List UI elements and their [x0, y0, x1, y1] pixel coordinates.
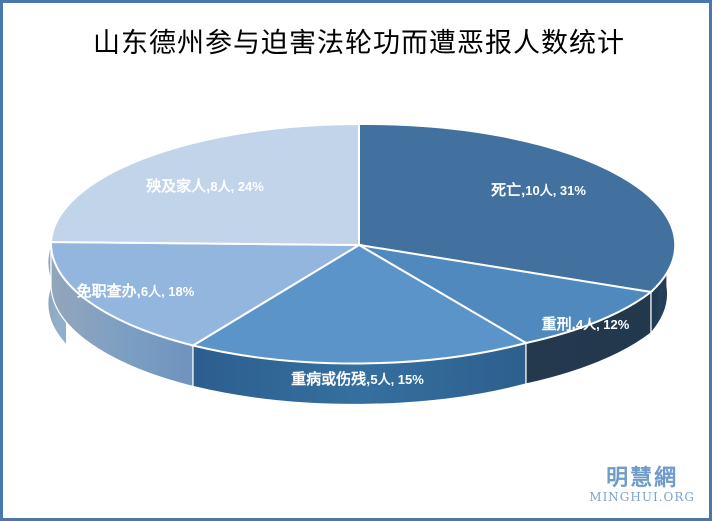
pie-label-death: 死亡,10人, 31%	[446, 179, 631, 202]
pie-label-prison-name: 重刑,	[542, 316, 576, 333]
pie-label-illness-name: 重病或伤残,	[291, 371, 370, 388]
pie-label-family-name: 殃及家人,	[146, 178, 210, 195]
pie-label-death-value: 10人, 31%	[525, 183, 586, 198]
minghui-watermark: 明慧網 MINGHUI.ORG	[589, 466, 695, 504]
watermark-english: MINGHUI.ORG	[589, 490, 695, 504]
chart-page: 山东德州参与迫害法轮功而遭恶报人数统计	[0, 0, 712, 521]
pie-label-dismissal: 免职查办,6人, 18%	[48, 280, 223, 303]
pie-label-death-name: 死亡,	[491, 182, 525, 199]
pie-label-family: 殃及家人,8人, 24%	[115, 175, 295, 198]
pie-label-illness-value: 5人, 15%	[370, 372, 423, 387]
pie-label-dismissal-name: 免职查办,	[77, 283, 141, 300]
pie-label-prison: 重刑,4人, 12%	[503, 313, 668, 336]
pie-label-family-value: 8人, 24%	[210, 179, 263, 194]
pie-label-prison-value: 4人, 12%	[576, 317, 629, 332]
pie-chart-3d	[3, 3, 712, 521]
pie-label-dismissal-value: 6人, 18%	[141, 284, 194, 299]
watermark-chinese: 明慧網	[589, 466, 695, 490]
pie-label-illness: 重病或伤残,5人, 15%	[275, 368, 440, 391]
